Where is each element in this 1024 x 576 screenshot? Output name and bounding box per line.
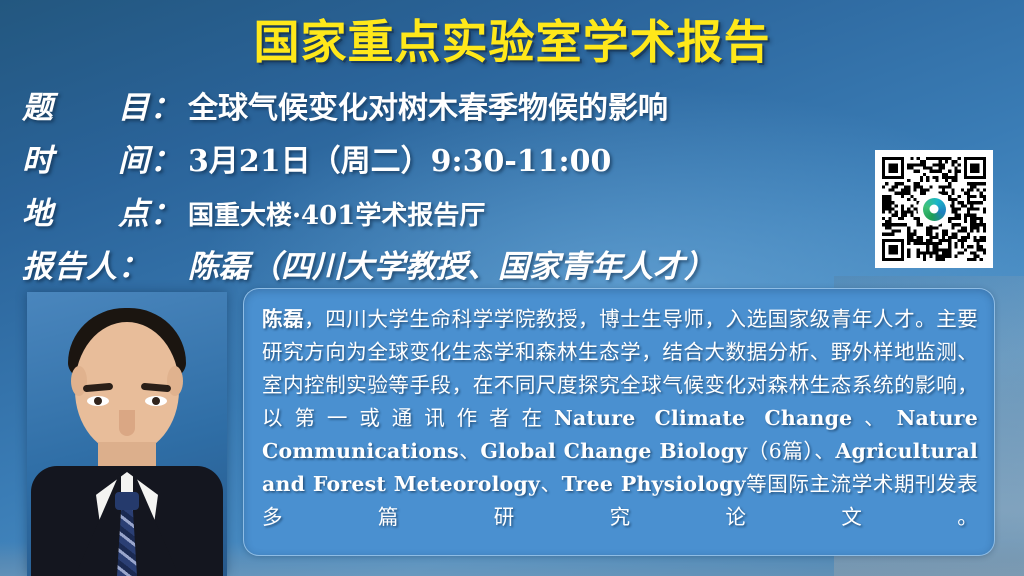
info-value-topic: 全球气候变化对树木春季物候的影响 bbox=[188, 83, 668, 127]
bio-journal-1: Nature Climate Change bbox=[554, 406, 852, 430]
info-row-time: 时 间： 3月21日（周二）9:30-11:00 bbox=[22, 135, 882, 179]
qr-code[interactable] bbox=[875, 150, 993, 268]
bio-separator-2: 、 bbox=[459, 439, 480, 463]
info-label-time: 时 间： bbox=[22, 135, 188, 180]
qr-center-logo-icon bbox=[919, 194, 949, 224]
info-value-time: 3月21日（周二）9:30-11:00 bbox=[188, 136, 611, 180]
page-title: 国家重点实验室学术报告 bbox=[0, 6, 1024, 72]
portrait-nose bbox=[119, 410, 135, 436]
bio-separator-3: 、 bbox=[814, 439, 835, 463]
bio-separator-4: 、 bbox=[540, 472, 562, 496]
bio-journal-5: Tree Physiology bbox=[562, 472, 746, 496]
speaker-photo bbox=[27, 292, 227, 576]
bio-speaker-name: 陈磊 bbox=[262, 307, 304, 331]
speaker-bio-text: 陈磊，四川大学生命科学学院教授，博士生导师，入选国家级青年人才。主要研究方向为全… bbox=[262, 303, 978, 534]
bio-separator-1: 、 bbox=[852, 406, 896, 430]
portrait-eye-left bbox=[87, 396, 109, 406]
info-row-location: 地 点： 国重大楼·401学术报告厅 bbox=[22, 188, 882, 232]
speaker-bio-box: 陈磊，四川大学生命科学学院教授，博士生导师，入选国家级青年人才。主要研究方向为全… bbox=[243, 288, 995, 556]
info-value-speaker: 陈磊（四川大学教授、国家青年人才） bbox=[188, 241, 715, 286]
info-row-topic: 题 目： 全球气候变化对树木春季物候的影响 bbox=[22, 82, 882, 126]
portrait-tie-knot bbox=[115, 492, 139, 510]
info-label-topic: 题 目： bbox=[22, 82, 188, 127]
bio-journal-3: Global Change Biology bbox=[480, 439, 747, 463]
portrait-eye-right bbox=[145, 396, 167, 406]
bio-journal-3-count: （6篇） bbox=[747, 439, 814, 463]
info-value-location: 国重大楼·401学术报告厅 bbox=[188, 195, 485, 232]
info-label-location: 地 点： bbox=[22, 188, 188, 233]
poster-canvas: 国家重点实验室学术报告 题 目： 全球气候变化对树木春季物候的影响 时 间： 3… bbox=[0, 0, 1024, 576]
info-block: 题 目： 全球气候变化对树木春季物候的影响 时 间： 3月21日（周二）9:30… bbox=[22, 82, 882, 294]
info-row-speaker: 报告人： 陈磊（四川大学教授、国家青年人才） bbox=[22, 241, 882, 285]
info-label-speaker: 报告人： bbox=[22, 241, 188, 286]
